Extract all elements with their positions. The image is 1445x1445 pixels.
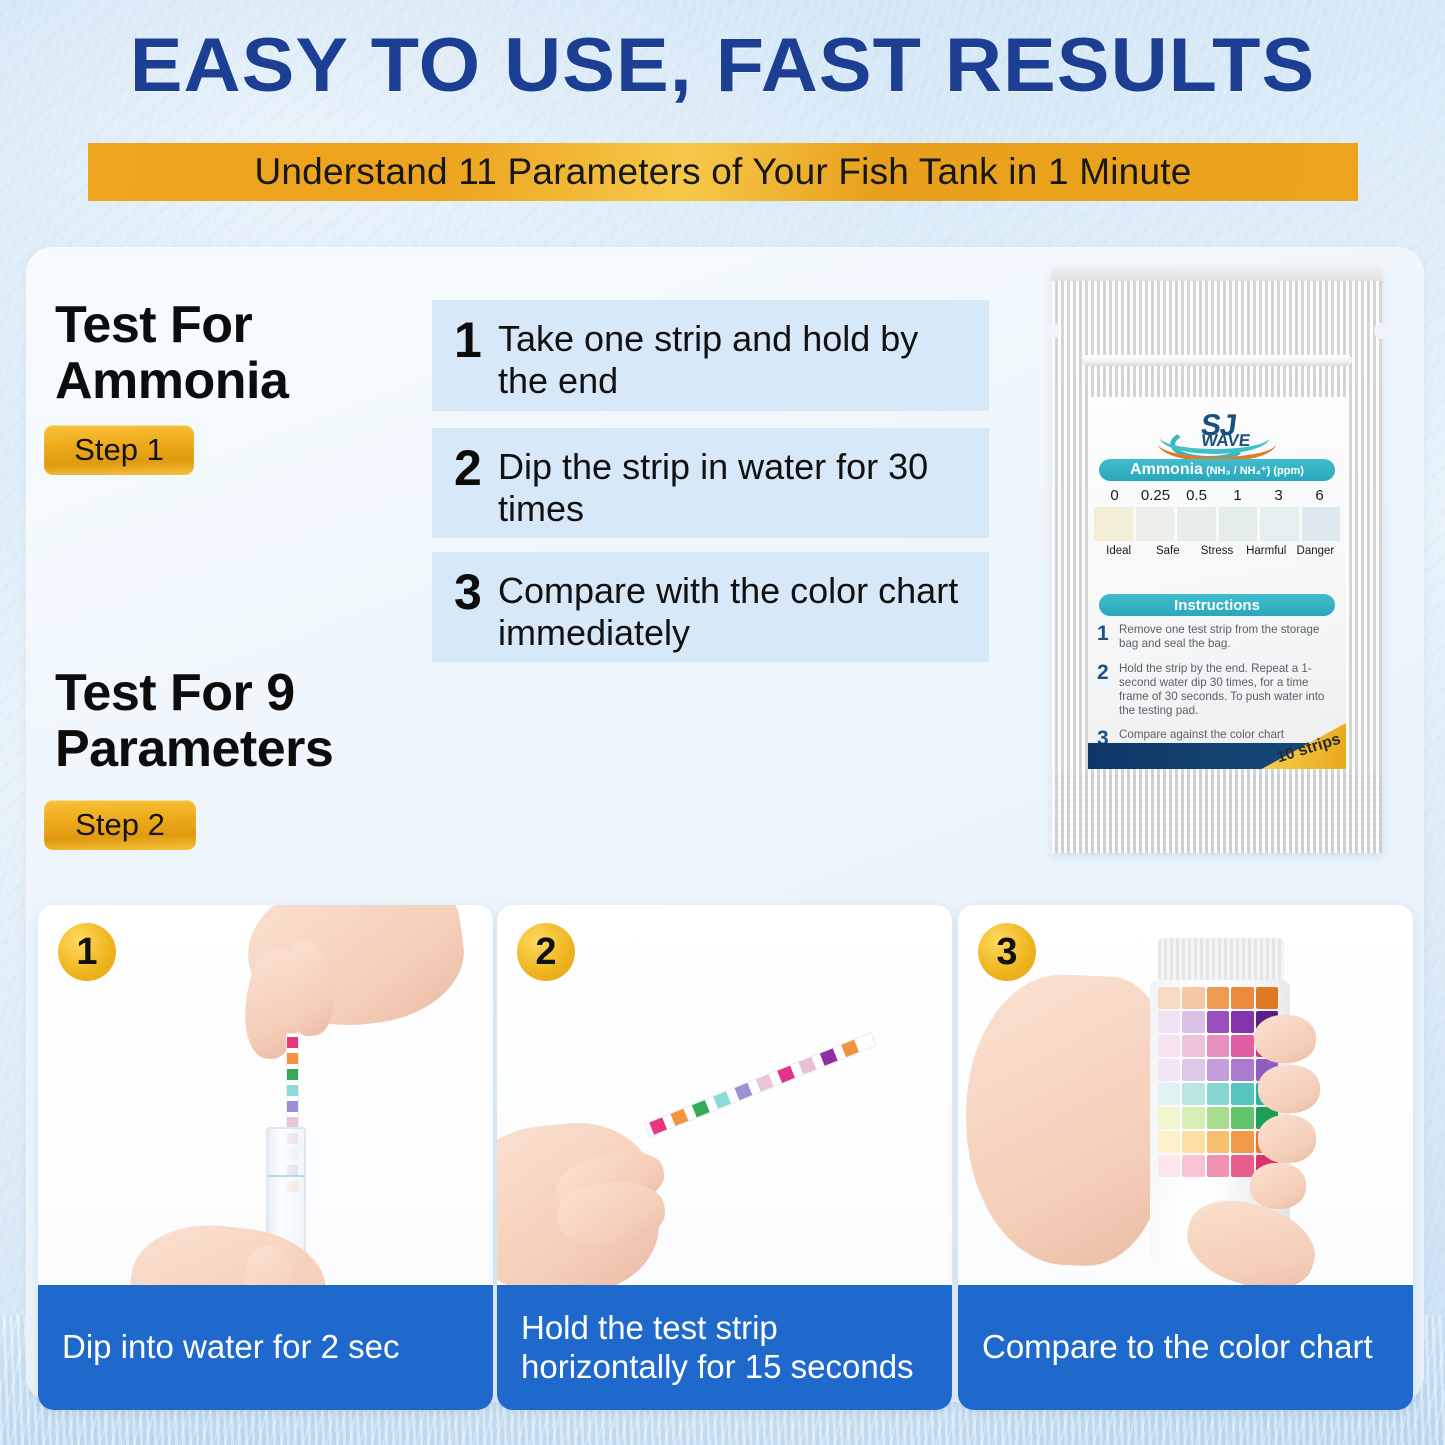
- tube-water-line: [268, 1175, 304, 1177]
- logo-wave-text: WAVE: [1200, 431, 1251, 451]
- chart-swatch: [1182, 1155, 1204, 1177]
- instruction-text: Dip the strip in water for 30 times: [498, 444, 973, 530]
- subtitle-text: Understand 11 Parameters of Your Fish Ta…: [254, 151, 1191, 193]
- page-title: EASY TO USE, FAST RESULTS: [0, 22, 1445, 109]
- finger-front-4: [1250, 1163, 1306, 1209]
- chart-swatch: [1231, 1035, 1253, 1057]
- chart-swatch: [1231, 1011, 1253, 1033]
- ammonia-formula: (NH₃ / NH₄⁺) (ppm): [1206, 464, 1304, 477]
- ammonia-swatch: [1302, 507, 1341, 541]
- ammonia-swatch: [1260, 507, 1299, 541]
- panel-number-badge: 2: [517, 923, 575, 981]
- chart-swatch: [1231, 1131, 1253, 1153]
- packet-instruction-number: 1: [1097, 623, 1119, 651]
- chart-swatch: [1158, 1107, 1180, 1129]
- chart-swatch: [1158, 987, 1180, 1009]
- strip-pad: [841, 1040, 859, 1057]
- step-photo-panel-3: 3 Compare to the color chart: [958, 905, 1413, 1410]
- ammonia-level-labels: Ideal Safe Stress Harmful Danger: [1094, 545, 1340, 557]
- packet-crimp-top: [1052, 267, 1382, 281]
- ammonia-swatch: [1136, 507, 1175, 541]
- ammonia-level: Stress: [1192, 545, 1241, 557]
- ammonia-value: 0.5: [1176, 487, 1217, 504]
- chart-swatch: [1231, 987, 1253, 1009]
- infographic-page: EASY TO USE, FAST RESULTS Understand 11 …: [0, 0, 1445, 1445]
- chart-swatch: [1207, 1107, 1229, 1129]
- ammonia-level: Safe: [1143, 545, 1192, 557]
- packet-instruction-item: 1 Remove one test strip from the storage…: [1097, 623, 1337, 651]
- section-title-ammonia: Test For Ammonia: [55, 298, 435, 409]
- packet-tear-notch-right: [1374, 323, 1387, 339]
- chart-swatch: [1182, 987, 1204, 1009]
- finger-front-3: [1258, 1115, 1316, 1163]
- chart-swatch: [1231, 1155, 1253, 1177]
- chart-swatch: [1207, 1083, 1229, 1105]
- packet-bottom-ribbon: 10 strips: [1088, 723, 1346, 769]
- strip-pad: [756, 1074, 774, 1091]
- packet-instruction-number: 2: [1097, 662, 1119, 718]
- packet-instruction-item: 2 Hold the strip by the end. Repeat a 1-…: [1097, 662, 1337, 718]
- packet-seal-strip: [1082, 355, 1352, 366]
- ammonia-swatch: [1094, 507, 1133, 541]
- strip-pad: [798, 1057, 816, 1074]
- strip-pad: [692, 1100, 710, 1117]
- chart-swatch: [1182, 1107, 1204, 1129]
- chart-swatch: [1158, 1011, 1180, 1033]
- instruction-text: Take one strip and hold by the end: [498, 316, 973, 402]
- ammonia-level: Ideal: [1094, 545, 1143, 557]
- panel-caption: Dip into water for 2 sec: [38, 1285, 493, 1410]
- ammonia-value: 1: [1217, 487, 1258, 504]
- chart-swatch: [1207, 1011, 1229, 1033]
- chart-swatch: [1158, 1155, 1180, 1177]
- finger-front-2: [1258, 1065, 1320, 1113]
- strip-pad: [735, 1083, 753, 1100]
- ammonia-value: 3: [1258, 487, 1299, 504]
- instruction-row: 1 Take one strip and hold by the end: [432, 300, 989, 411]
- step-badge-1: Step 1: [44, 425, 194, 475]
- ammonia-title: Ammonia: [1130, 461, 1203, 479]
- test-strip-diagonal: [644, 1032, 877, 1138]
- ammonia-value: 0: [1094, 487, 1135, 504]
- chart-swatch: [1182, 1083, 1204, 1105]
- instruction-number: 2: [454, 444, 498, 493]
- chart-swatch: [1207, 1059, 1229, 1081]
- ammonia-swatch: [1177, 507, 1216, 541]
- chart-swatch: [1231, 1059, 1253, 1081]
- strip-pad: [287, 1053, 298, 1064]
- chart-swatch: [1182, 1131, 1204, 1153]
- strip-pad: [777, 1066, 795, 1083]
- strip-pad: [649, 1117, 667, 1134]
- step-photo-panel-2: 2 Hold the test strip horizontally for 1…: [497, 905, 952, 1410]
- strip-pad: [287, 1101, 298, 1112]
- strip-pad: [820, 1048, 838, 1065]
- panel-number-badge: 1: [58, 923, 116, 981]
- sj-wave-logo: SJ WAVE: [1088, 407, 1346, 459]
- panel-caption: Compare to the color chart: [958, 1285, 1413, 1410]
- chart-swatch: [1207, 987, 1229, 1009]
- panel-caption: Hold the test strip horizontally for 15 …: [497, 1285, 952, 1410]
- chart-swatch: [1256, 987, 1278, 1009]
- chart-swatch: [1207, 1131, 1229, 1153]
- step-badge-2: Step 2: [44, 800, 196, 850]
- strip-pad: [287, 1085, 298, 1096]
- ammonia-swatch: [1219, 507, 1258, 541]
- strip-pad: [713, 1092, 731, 1109]
- ammonia-value: 6: [1299, 487, 1340, 504]
- step-photo-panel-1: 1 Dip into water for 2 sec: [38, 905, 493, 1410]
- chart-swatch: [1158, 1059, 1180, 1081]
- finger-front-1: [1254, 1015, 1316, 1063]
- ammonia-level: Danger: [1291, 545, 1340, 557]
- instruction-row: 3 Compare with the color chart immediate…: [432, 552, 989, 662]
- chart-swatch: [1158, 1083, 1180, 1105]
- chart-swatch: [1207, 1035, 1229, 1057]
- ammonia-title-bar: Ammonia (NH₃ / NH₄⁺) (ppm): [1099, 459, 1335, 481]
- section-title-parameters: Test For 9 Parameters: [55, 666, 475, 777]
- chart-swatch: [1207, 1155, 1229, 1177]
- packet-tear-notch-left: [1047, 323, 1060, 339]
- chart-swatch: [1182, 1035, 1204, 1057]
- packet-instruction-text: Hold the strip by the end. Repeat a 1-se…: [1119, 662, 1337, 718]
- chart-swatch: [1182, 1059, 1204, 1081]
- strip-pad: [287, 1037, 298, 1048]
- strip-pad: [287, 1069, 298, 1080]
- packet-crimp-bottom: [1052, 775, 1382, 853]
- bottle-cap: [1158, 938, 1284, 980]
- product-packet: SJ WAVE Ammonia (NH₃ / NH₄⁺) (ppm) 0 0.2…: [1052, 267, 1382, 853]
- hand-holding-bottle: [961, 972, 1171, 1269]
- chart-swatch: [1158, 1035, 1180, 1057]
- instruction-number: 1: [454, 316, 498, 365]
- instruction-number: 3: [454, 568, 498, 617]
- chart-swatch: [1231, 1107, 1253, 1129]
- packet-label: SJ WAVE Ammonia (NH₃ / NH₄⁺) (ppm) 0 0.2…: [1088, 397, 1346, 769]
- chart-swatch: [1158, 1131, 1180, 1153]
- ammonia-color-swatches: [1094, 507, 1340, 541]
- ammonia-value-scale: 0 0.25 0.5 1 3 6: [1094, 487, 1340, 504]
- packet-instruction-text: Remove one test strip from the storage b…: [1119, 623, 1337, 651]
- ammonia-level: Harmful: [1242, 545, 1291, 557]
- ammonia-value: 0.25: [1135, 487, 1176, 504]
- chart-swatch: [1182, 1011, 1204, 1033]
- packet-instructions-title-bar: Instructions: [1099, 594, 1335, 616]
- panel-number-badge: 3: [978, 923, 1036, 981]
- instruction-text: Compare with the color chart immediately: [498, 568, 973, 654]
- instruction-row: 2 Dip the strip in water for 30 times: [432, 428, 989, 538]
- chart-swatch: [1231, 1083, 1253, 1105]
- strip-pad: [671, 1109, 689, 1126]
- subtitle-banner: Understand 11 Parameters of Your Fish Ta…: [88, 143, 1358, 201]
